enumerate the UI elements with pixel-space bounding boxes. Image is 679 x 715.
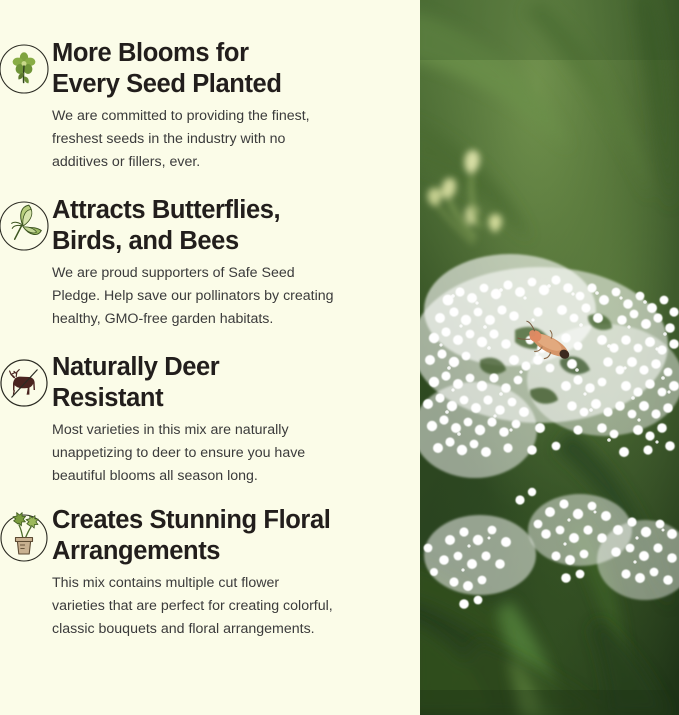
flower-in-circle-icon bbox=[0, 38, 52, 96]
potted-plant-in-circle-icon bbox=[0, 505, 52, 565]
feature-text-deer-resistant: Naturally Deer Resistant Most varieties … bbox=[52, 352, 420, 488]
feature-text-more-blooms: More Blooms for Every Seed Planted We ar… bbox=[52, 38, 420, 174]
feature-title: Naturally Deer Resistant bbox=[52, 352, 404, 413]
butterfly-in-circle-icon-svg bbox=[0, 199, 51, 253]
product-feature-panel: More Blooms for Every Seed Planted We ar… bbox=[0, 0, 679, 715]
feature-description: This mix contains multiple cut flower va… bbox=[52, 572, 404, 641]
feature-title: Creates Stunning Floral Arrangements bbox=[52, 505, 404, 566]
feature-title: Attracts Butterflies, Birds, and Bees bbox=[52, 195, 404, 256]
feature-description: We are proud supporters of Safe Seed Ple… bbox=[52, 262, 404, 331]
queen-annes-lace-photo-svg bbox=[420, 0, 679, 715]
feature-text-floral-arrangements: Creates Stunning Floral Arrangements Thi… bbox=[52, 505, 420, 641]
queen-annes-lace-photo bbox=[420, 0, 679, 715]
butterfly-in-circle-icon bbox=[0, 195, 52, 253]
feature-item-more-blooms: More Blooms for Every Seed Planted We ar… bbox=[0, 38, 420, 174]
feature-description: Most varieties in this mix are naturally… bbox=[52, 419, 404, 488]
features-list: More Blooms for Every Seed Planted We ar… bbox=[0, 0, 420, 715]
feature-text-attracts-pollinators: Attracts Butterflies, Birds, and Bees We… bbox=[52, 195, 420, 331]
flower-in-circle-icon-svg bbox=[0, 42, 51, 96]
feature-title: More Blooms for Every Seed Planted bbox=[52, 38, 404, 99]
feature-item-deer-resistant: Naturally Deer Resistant Most varieties … bbox=[0, 352, 420, 488]
feature-item-attracts-pollinators: Attracts Butterflies, Birds, and Bees We… bbox=[0, 195, 420, 331]
feature-description: We are committed to providing the finest… bbox=[52, 105, 404, 174]
no-deer-in-circle-icon bbox=[0, 352, 52, 410]
no-deer-in-circle-icon-svg bbox=[0, 356, 51, 410]
feature-item-floral-arrangements: Creates Stunning Floral Arrangements Thi… bbox=[0, 505, 420, 641]
potted-plant-in-circle-icon-svg bbox=[0, 509, 51, 565]
